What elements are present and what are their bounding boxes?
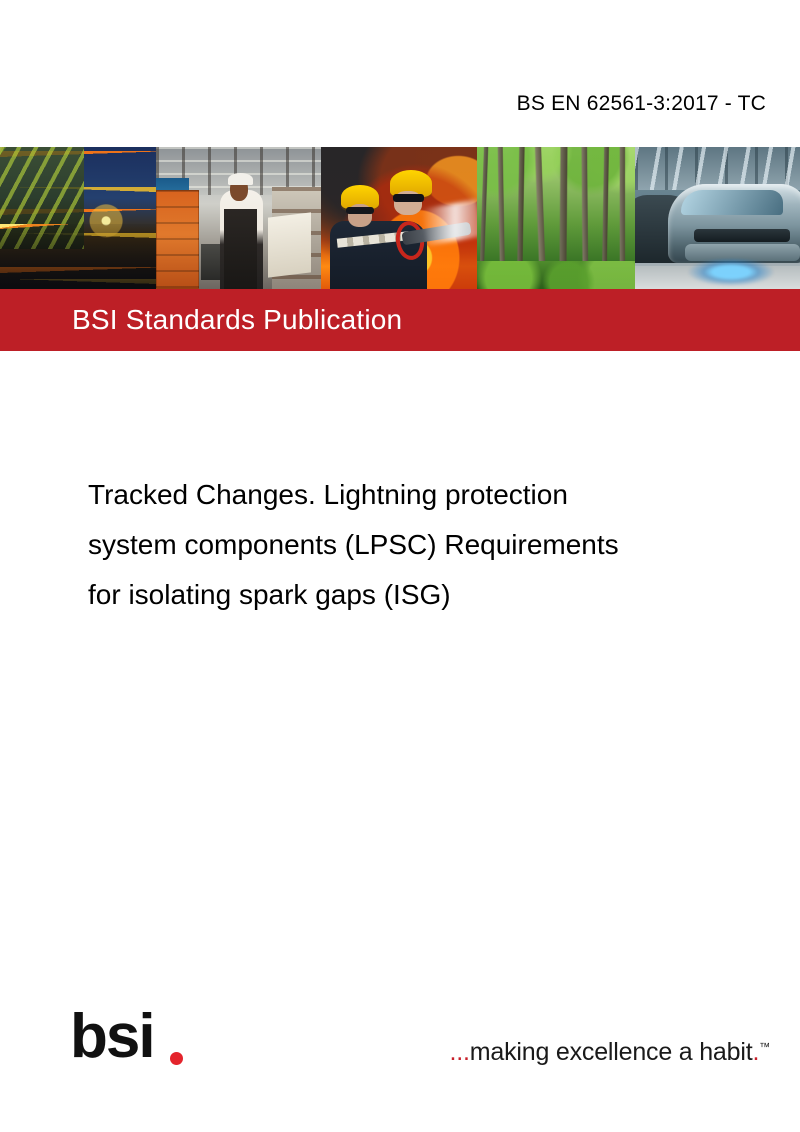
- bsi-logo-wordmark: bsi: [70, 1002, 154, 1071]
- title-line-3: for isolating spark gaps (ISG): [88, 570, 718, 620]
- photo-panel-firefighters: [321, 147, 477, 289]
- bsi-tagline: ...making excellence a habit.™: [450, 1038, 770, 1067]
- water-spray-shape: [421, 199, 477, 245]
- banner-label: BSI Standards Publication: [72, 304, 402, 336]
- photo-panel-forest: [477, 147, 635, 289]
- firefighter-visor-right-shape: [393, 194, 424, 203]
- bsi-logo: bsi: [70, 1006, 190, 1068]
- cover-photo-strip: [0, 147, 800, 289]
- forest-floor-shape: [477, 261, 635, 289]
- photo-panel-warehouse-worker: [156, 147, 321, 289]
- document-title: Tracked Changes. Lightning protection sy…: [88, 470, 718, 620]
- warehouse-orange-crates-shape: [156, 190, 199, 289]
- car-grille-shape: [694, 229, 790, 242]
- tagline-text: making excellence a habit: [470, 1038, 753, 1066]
- title-line-1: Tracked Changes. Lightning protection: [88, 470, 718, 520]
- car-windshield-shape: [681, 190, 783, 216]
- photo-panel-car-assembly: [635, 147, 800, 289]
- trademark-icon: ™: [759, 1042, 770, 1054]
- photo-panel-traffic-light-trails: [0, 147, 156, 289]
- warehouse-box-shape: [268, 213, 311, 278]
- firefighter-visor-left-shape: [346, 207, 374, 214]
- bsi-logo-dot-icon: [170, 1052, 183, 1065]
- bsi-standards-banner: BSI Standards Publication: [0, 289, 800, 351]
- standard-number: BS EN 62561-3:2017 - TC: [517, 92, 766, 116]
- worker-cap-shape: [228, 173, 253, 186]
- tagline-leading-dots: ...: [450, 1038, 470, 1066]
- title-line-2: system components (LPSC) Requirements: [88, 520, 718, 570]
- assembly-line-underglow-shape: [688, 258, 774, 286]
- worker-apron-shape: [224, 209, 257, 289]
